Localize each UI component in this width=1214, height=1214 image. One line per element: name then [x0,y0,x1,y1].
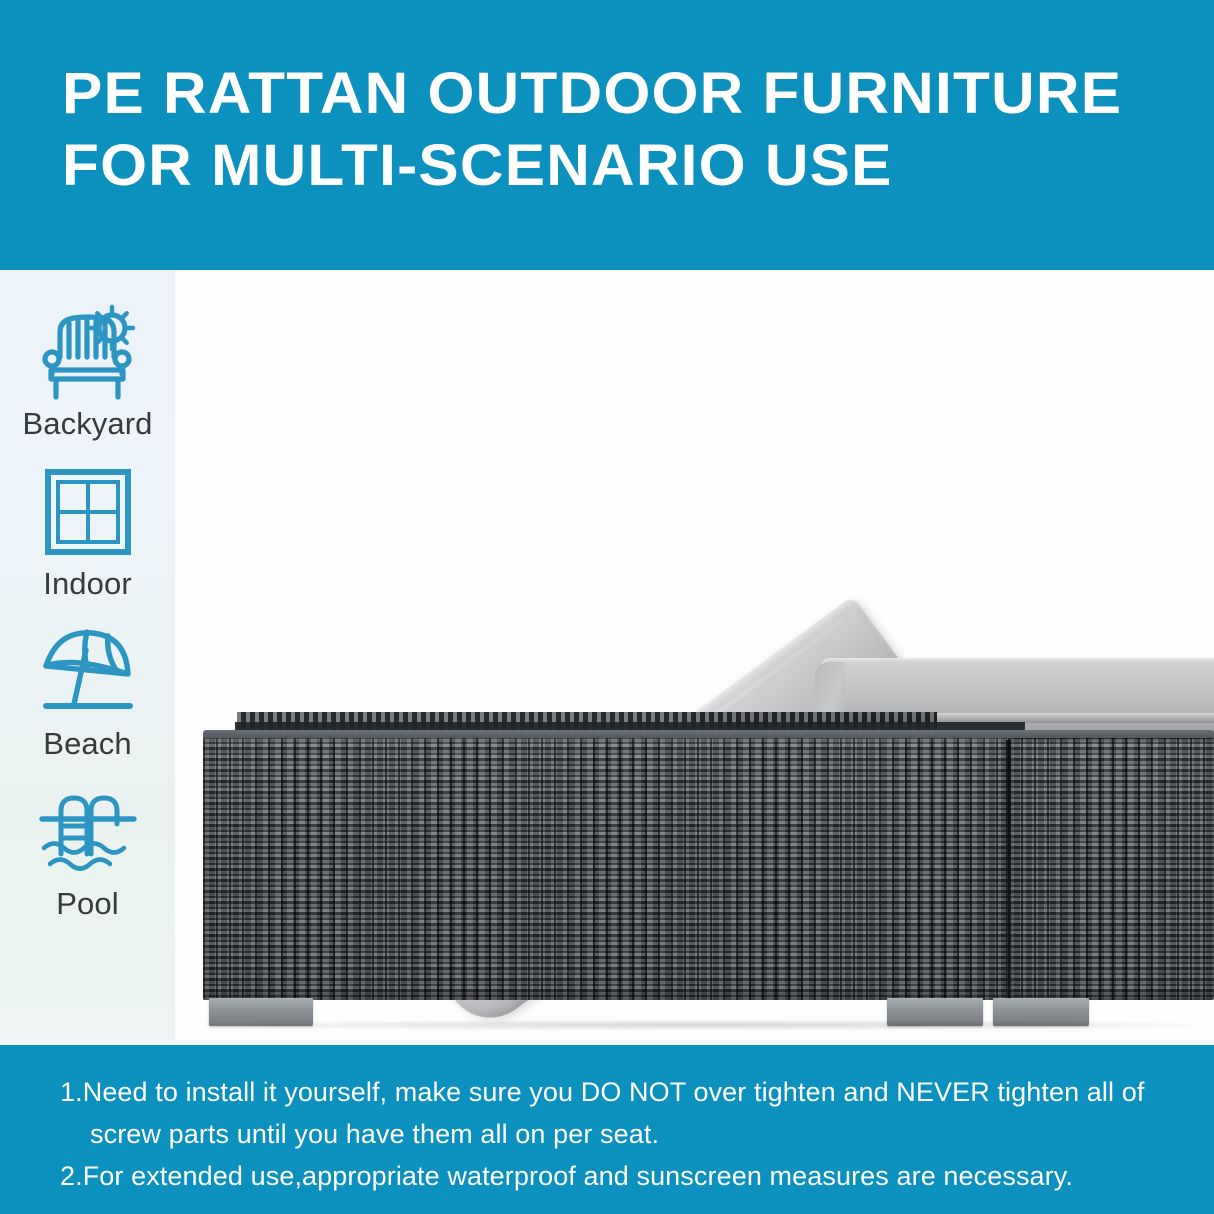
footer-notes: 1.Need to install it yourself, make sure… [0,1045,1214,1214]
product-infographic: PE RATTAN OUTDOOR FURNITURE FOR MULTI-SC… [0,0,1214,1214]
scenario-sidebar: Backyard Indoor [0,270,175,1045]
adirondack-chair-sun-icon [34,300,142,404]
sidebar-item-pool[interactable]: Pool [0,780,175,922]
rattan-base-right [1008,738,1214,1000]
sidebar-item-beach[interactable]: Beach [0,620,175,762]
footer-note-1-line-2: screw parts until you have them all on p… [60,1113,1158,1155]
sidebar-item-label: Pool [56,886,118,922]
sidebar-item-indoor[interactable]: Indoor [0,460,175,602]
sidebar-item-backyard[interactable]: Backyard [0,300,175,442]
rattan-base-left [203,738,1008,1000]
beach-umbrella-icon [34,620,142,724]
base-section-seam [1006,740,1011,998]
sidebar-item-label: Beach [43,726,131,762]
header-banner: PE RATTAN OUTDOOR FURNITURE FOR MULTI-SC… [0,0,1214,270]
sidebar-item-label: Backyard [22,406,152,442]
chaise-lounge-illustration [175,270,1214,1045]
sidebar-item-label: Indoor [43,566,132,602]
ground-shadow [205,1020,1195,1030]
page-title: PE RATTAN OUTDOOR FURNITURE FOR MULTI-SC… [62,58,1198,202]
window-icon [34,460,142,564]
footer-note-2: 2.For extended use,appropriate waterproo… [60,1155,1158,1197]
footer-note-1-line-1: 1.Need to install it yourself, make sure… [60,1071,1158,1113]
pool-ladder-icon [34,780,142,884]
main-content: Backyard Indoor [0,270,1214,1045]
product-photo [175,270,1214,1045]
